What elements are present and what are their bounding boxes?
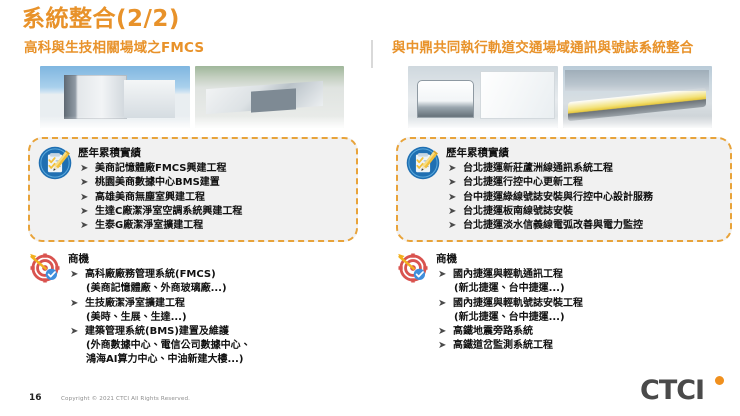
list-item-label: 台北捷運行控中心更新工程 bbox=[463, 177, 583, 188]
right-photo-strip bbox=[408, 66, 712, 128]
list-item: ➤ 高鐵道岔監測系統工程 bbox=[436, 339, 732, 353]
list-item-subtext: (外商數據中心、電信公司數據中心、 bbox=[85, 339, 364, 353]
right-column: 與中鼎共同執行軌道交通場域通訊與號誌系統整合 bbox=[386, 38, 734, 353]
arrow-bullet-icon: ➤ bbox=[70, 268, 78, 282]
right-achievements-heading: 歷年累積實績 bbox=[446, 147, 722, 160]
list-item: ➤ 高科廠廠務管理系統(FMCS) (美商記憶體廠、外商玻璃廠...) bbox=[68, 268, 364, 296]
left-achievements-body: 歷年累積實績 ➤美商記憶體廠FMCS興建工程 ➤桃園美商數據中心BMS建置 ➤高… bbox=[78, 146, 348, 233]
left-achievements-panel: 歷年累積實績 ➤美商記憶體廠FMCS興建工程 ➤桃園美商數據中心BMS建置 ➤高… bbox=[28, 137, 358, 242]
page-title: 系統整合(2/2) bbox=[22, 6, 180, 34]
list-item-subtext: (美商記憶體廠、外商玻璃廠...) bbox=[85, 282, 364, 296]
light-rail-photo bbox=[563, 66, 713, 128]
list-item-label: 台北捷運淡水信義線電弧改善與電力監控 bbox=[463, 220, 643, 231]
list-item-label: 生達C廠潔淨室空調系統興建工程 bbox=[95, 206, 242, 217]
checklist-pencil-icon bbox=[406, 146, 440, 180]
right-achievements-panel: 歷年累積實績 ➤台北捷運新莊蘆洲線通訊系統工程 ➤台北捷運行控中心更新工程 ➤台… bbox=[396, 137, 732, 242]
right-opportunity-block: 商機 ➤ 國內捷運與輕軌通訊工程 (新北捷運、台中捷運...) ➤ 國內捷運與輕… bbox=[396, 251, 732, 353]
photo-reflection bbox=[563, 116, 713, 128]
arrow-bullet-icon: ➤ bbox=[80, 176, 88, 190]
arrow-bullet-icon: ➤ bbox=[80, 162, 88, 176]
list-item: ➤ 國內捷運與輕軌通訊工程 (新北捷運、台中捷運...) bbox=[436, 268, 732, 296]
arrow-bullet-icon: ➤ bbox=[438, 325, 446, 339]
list-item: ➤ 建築管理系統(BMS)建置及維護 (外商數據中心、電信公司數據中心、 鴻海A… bbox=[68, 325, 364, 368]
arrow-bullet-icon: ➤ bbox=[448, 205, 456, 219]
arrow-bullet-icon: ➤ bbox=[438, 297, 446, 311]
page-number: 16 bbox=[29, 393, 42, 403]
list-item: ➤生達C廠潔淨室空調系統興建工程 bbox=[78, 205, 348, 219]
list-item: ➤美商記憶體廠FMCS興建工程 bbox=[78, 162, 348, 176]
right-achievements-body: 歷年累積實績 ➤台北捷運新莊蘆洲線通訊系統工程 ➤台北捷運行控中心更新工程 ➤台… bbox=[446, 146, 722, 233]
column-divider bbox=[371, 40, 373, 68]
list-item-subtext: (美時、生展、生達...) bbox=[85, 311, 364, 325]
list-item-label: 高科廠廠務管理系統(FMCS) bbox=[85, 269, 216, 280]
arrow-bullet-icon: ➤ bbox=[70, 297, 78, 311]
route-map-graphic bbox=[486, 77, 546, 109]
list-item-subtext: (新北捷運、台中捷運...) bbox=[453, 311, 732, 325]
arrow-bullet-icon: ➤ bbox=[448, 162, 456, 176]
right-opportunity-list: ➤ 國內捷運與輕軌通訊工程 (新北捷運、台中捷運...) ➤ 國內捷運與輕軌號誌… bbox=[436, 268, 732, 353]
list-item-label: 高鐵道岔監測系統工程 bbox=[453, 340, 553, 351]
list-item-subtext-2: 鴻海AI算力中心、中油新建大樓...) bbox=[85, 353, 364, 367]
right-opportunity-body: 商機 ➤ 國內捷運與輕軌通訊工程 (新北捷運、台中捷運...) ➤ 國內捷運與輕… bbox=[436, 251, 732, 353]
list-item-label: 生技廠潔淨室擴建工程 bbox=[85, 298, 185, 309]
left-opportunity-block: 商機 ➤ 高科廠廠務管理系統(FMCS) (美商記憶體廠、外商玻璃廠...) ➤… bbox=[28, 251, 364, 367]
list-item: ➤台北捷運行控中心更新工程 bbox=[446, 176, 722, 190]
list-item: ➤台中捷運綠線號誌安裝與行控中心設計服務 bbox=[446, 191, 722, 205]
list-item-label: 高雄美商無塵室興建工程 bbox=[95, 192, 205, 203]
arrow-bullet-icon: ➤ bbox=[80, 219, 88, 233]
list-item: ➤台北捷運新莊蘆洲線通訊系統工程 bbox=[446, 162, 722, 176]
list-item-subtext: (新北捷運、台中捷運...) bbox=[453, 282, 732, 296]
arrow-bullet-icon: ➤ bbox=[70, 325, 78, 339]
arrow-bullet-icon: ➤ bbox=[448, 191, 456, 205]
list-item: ➤生泰G廠潔淨室擴建工程 bbox=[78, 219, 348, 233]
list-item-label: 台中捷運綠線號誌安裝與行控中心設計服務 bbox=[463, 192, 653, 203]
left-photo-strip bbox=[40, 66, 344, 128]
fab-building-photo bbox=[40, 66, 190, 128]
photo-reflection bbox=[408, 116, 558, 128]
metro-train-photo bbox=[408, 66, 558, 128]
left-opportunity-list: ➤ 高科廠廠務管理系統(FMCS) (美商記憶體廠、外商玻璃廠...) ➤ 生技… bbox=[68, 268, 364, 367]
target-arrow-icon bbox=[396, 251, 430, 285]
right-achievements-list: ➤台北捷運新莊蘆洲線通訊系統工程 ➤台北捷運行控中心更新工程 ➤台中捷運綠線號誌… bbox=[446, 162, 722, 233]
list-item: ➤ 生技廠潔淨室擴建工程 (美時、生展、生達...) bbox=[68, 297, 364, 325]
arrow-bullet-icon: ➤ bbox=[438, 268, 446, 282]
list-item-label: 高鐵地震旁路系統 bbox=[453, 326, 533, 337]
left-achievements-heading: 歷年累積實績 bbox=[78, 147, 348, 160]
photo-reflection bbox=[40, 116, 190, 128]
target-arrow-icon bbox=[28, 251, 62, 285]
left-column: 高科與生技相關場域之FMCS bbox=[18, 38, 366, 368]
aerial-plant-photo bbox=[195, 66, 345, 128]
right-opportunity-heading: 商機 bbox=[436, 253, 732, 266]
arrow-bullet-icon: ➤ bbox=[448, 176, 456, 190]
list-item-label: 台北捷運板南線號誌安裝 bbox=[463, 206, 573, 217]
left-achievements-list: ➤美商記憶體廠FMCS興建工程 ➤桃園美商數據中心BMS建置 ➤高雄美商無塵室興… bbox=[78, 162, 348, 233]
arrow-bullet-icon: ➤ bbox=[80, 191, 88, 205]
left-opportunity-heading: 商機 bbox=[68, 253, 364, 266]
copyright-notice: Copyright © 2021 CTCI All Rights Reserve… bbox=[61, 396, 190, 402]
photo-reflection bbox=[195, 116, 345, 128]
ctci-logo-dot-icon bbox=[715, 376, 724, 385]
list-item: ➤台北捷運板南線號誌安裝 bbox=[446, 205, 722, 219]
ctci-logo: CTCI bbox=[640, 376, 726, 406]
arrow-bullet-icon: ➤ bbox=[448, 219, 456, 233]
list-item-label: 國內捷運與輕軌號誌安裝工程 bbox=[453, 298, 583, 309]
list-item: ➤桃園美商數據中心BMS建置 bbox=[78, 176, 348, 190]
list-item: ➤ 國內捷運與輕軌號誌安裝工程 (新北捷運、台中捷運...) bbox=[436, 297, 732, 325]
slide-root: 系統整合(2/2) 高科與生技相關場域之FMCS bbox=[0, 0, 740, 416]
list-item: ➤高雄美商無塵室興建工程 bbox=[78, 191, 348, 205]
list-item: ➤台北捷運淡水信義線電弧改善與電力監控 bbox=[446, 219, 722, 233]
list-item-label: 國內捷運與輕軌通訊工程 bbox=[453, 269, 563, 280]
left-column-header: 高科與生技相關場域之FMCS bbox=[18, 38, 366, 58]
list-item-label: 桃園美商數據中心BMS建置 bbox=[95, 177, 220, 188]
list-item: ➤ 高鐵地震旁路系統 bbox=[436, 325, 732, 339]
checklist-pencil-icon bbox=[38, 146, 72, 180]
list-item-label: 建築管理系統(BMS)建置及維護 bbox=[85, 326, 229, 337]
list-item-label: 台北捷運新莊蘆洲線通訊系統工程 bbox=[463, 163, 613, 174]
right-column-header: 與中鼎共同執行軌道交通場域通訊與號誌系統整合 bbox=[386, 38, 734, 58]
ctci-logo-text: CTCI bbox=[640, 375, 704, 406]
left-opportunity-body: 商機 ➤ 高科廠廠務管理系統(FMCS) (美商記憶體廠、外商玻璃廠...) ➤… bbox=[68, 251, 364, 367]
list-item-label: 生泰G廠潔淨室擴建工程 bbox=[95, 220, 203, 231]
arrow-bullet-icon: ➤ bbox=[80, 205, 88, 219]
list-item-label: 美商記憶體廠FMCS興建工程 bbox=[95, 163, 227, 174]
arrow-bullet-icon: ➤ bbox=[438, 339, 446, 353]
